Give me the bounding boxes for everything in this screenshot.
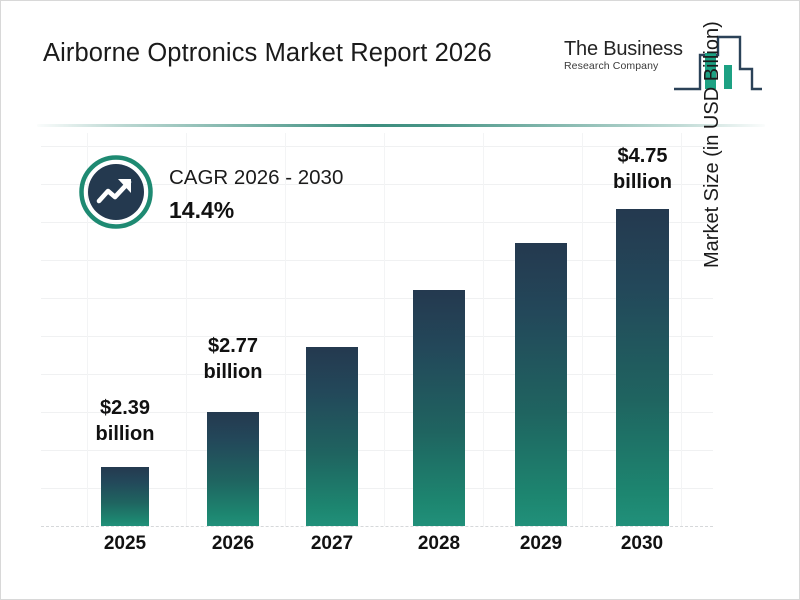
gridline-horizontal (41, 298, 713, 299)
chart-header: Airborne Optronics Market Report 2026 Th… (1, 1, 800, 119)
value-label-amount: $2.39 (82, 395, 168, 421)
x-axis-tick-2030: 2030 (602, 533, 682, 555)
cagr-badge: CAGR 2026 - 2030 14.4% (79, 151, 399, 237)
value-label-2026: $2.77billion (188, 333, 278, 385)
value-label-2030: $4.75billion (597, 143, 688, 195)
gridline-vertical (582, 133, 583, 526)
logo-wordmark: The Business Research Company (564, 39, 682, 73)
gridline-horizontal (41, 260, 713, 261)
page-title: Airborne Optronics Market Report 2026 (43, 39, 492, 68)
value-label-amount: $4.75 (597, 143, 688, 169)
gridline-vertical (483, 133, 484, 526)
x-axis-tick-2029: 2029 (501, 533, 581, 555)
cagr-value: 14.4% (169, 195, 343, 225)
bar-2025 (101, 467, 149, 526)
x-axis-tick-2027: 2027 (292, 533, 372, 555)
gridline-horizontal (41, 450, 713, 451)
x-axis-baseline (41, 526, 713, 528)
cagr-label: CAGR 2026 - 2030 (169, 165, 343, 191)
value-label-amount: $2.77 (188, 333, 278, 359)
bar-2027 (306, 347, 358, 526)
y-axis-title: Market Size (in USD Billion) (701, 0, 727, 268)
x-axis-labels: 202520262027202820292030 (41, 533, 713, 563)
header-divider (37, 124, 765, 127)
gridline-horizontal (41, 336, 713, 337)
value-label-unit: billion (82, 421, 168, 447)
logo-line-2: Research Company (564, 59, 682, 73)
bar-2026 (207, 412, 259, 526)
x-axis-tick-2025: 2025 (85, 533, 165, 555)
chart-page: Airborne Optronics Market Report 2026 Th… (0, 0, 800, 600)
bar-2029 (515, 243, 567, 526)
trending-up-arrow-icon (79, 155, 153, 229)
value-label-unit: billion (188, 359, 278, 385)
bar-2028 (413, 290, 465, 526)
gridline-horizontal (41, 374, 713, 375)
x-axis-tick-2026: 2026 (193, 533, 273, 555)
cagr-text-block: CAGR 2026 - 2030 14.4% (169, 165, 343, 225)
logo-line-1: The Business (564, 39, 682, 59)
bar-2030 (616, 209, 669, 526)
value-label-unit: billion (597, 169, 688, 195)
company-logo: The Business Research Company (564, 31, 764, 99)
value-label-2025: $2.39billion (82, 395, 168, 447)
x-axis-tick-2028: 2028 (399, 533, 479, 555)
